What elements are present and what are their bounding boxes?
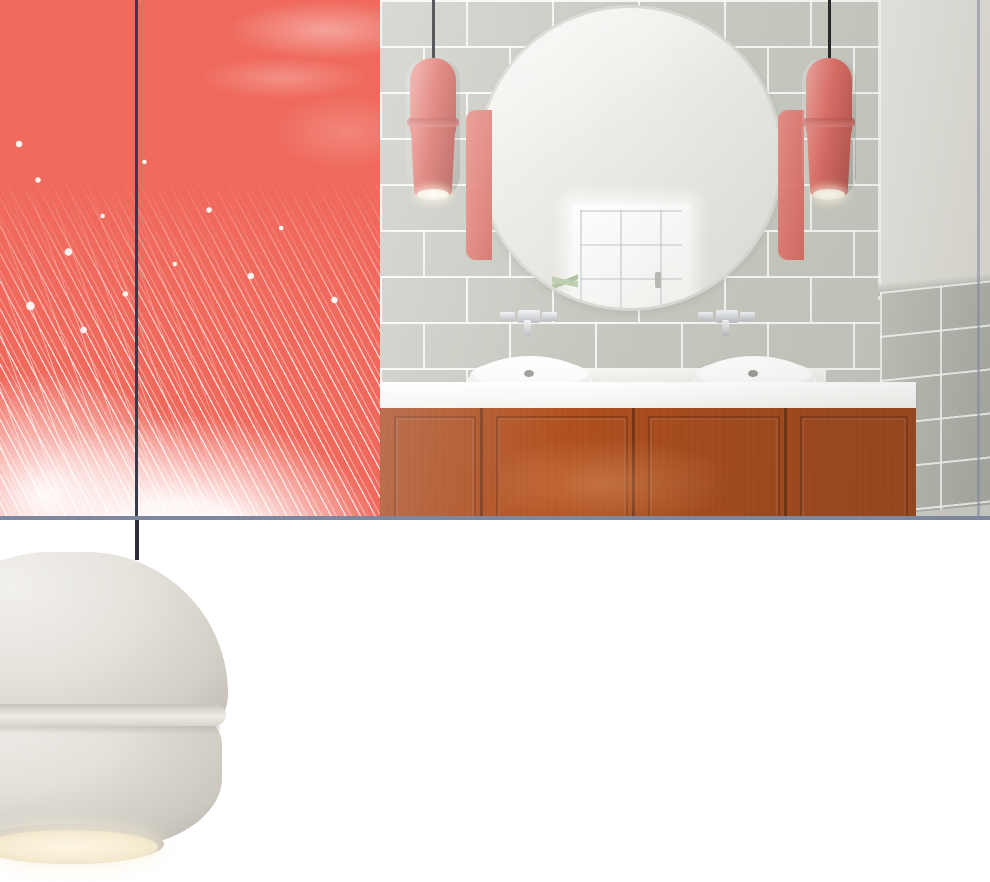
pendant-cord-upper: [135, 0, 138, 516]
paint-speckle-flecks: [0, 120, 380, 420]
frame-border-right-top: [977, 0, 980, 516]
pendant-ridge-groove: [0, 704, 226, 726]
top-row: [0, 0, 990, 516]
bisque-globe-pendant: [0, 552, 228, 860]
coral-paint-swatch: [0, 0, 380, 516]
pendant-diffuser-glow: [0, 830, 158, 864]
bottom-row: ORDER IN BISQUE (-BIS) TO MAKE IT YOUR O…: [0, 520, 990, 882]
promo-card: ORDER IN BISQUE (-BIS) TO MAKE IT YOUR O…: [0, 0, 990, 882]
photo-light-falloff: [380, 0, 990, 516]
bathroom-interior-photo: [380, 0, 990, 516]
